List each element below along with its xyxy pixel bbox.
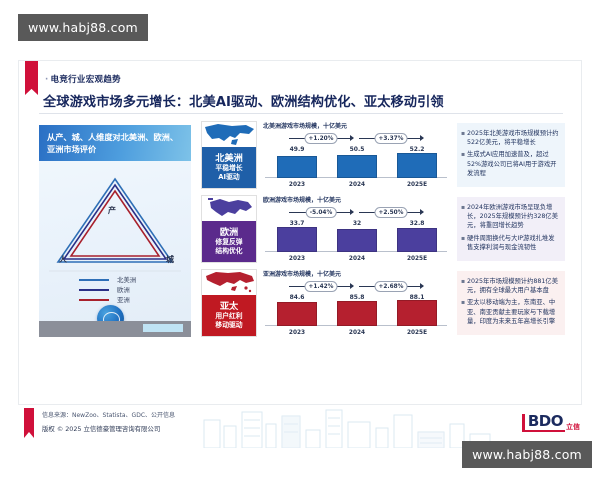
insight-item: ▪ 生成式AI应用加速普及，超过52%游戏公司已将AI用于游戏开发流程 bbox=[461, 150, 560, 178]
region-badge-body: 亚太 用户红利 移动驱动 bbox=[202, 295, 256, 336]
skyline-graphic bbox=[198, 406, 498, 448]
x-tick-label: 2023 bbox=[277, 256, 317, 262]
bar bbox=[277, 156, 317, 178]
bar-chart-asia-pacific: 亚洲游戏市场规模，十亿美元 +1.42% +2.68% bbox=[263, 269, 449, 337]
bar-value: 52.2 bbox=[397, 146, 437, 153]
legend-swatch bbox=[79, 279, 109, 281]
legend-item: 亚洲 bbox=[79, 295, 171, 304]
growth-value: -5.04% bbox=[306, 207, 337, 218]
growth-annotation-1: -5.04% bbox=[289, 207, 353, 218]
insight-text: 硬件周期换代与大IP游戏扎堆发售支撑利润与现金流韧性 bbox=[467, 234, 560, 252]
region-badge-north-america: 北美洲 平稳增长 AI驱动 bbox=[201, 121, 257, 189]
region-row-north-america: 北美洲 平稳增长 AI驱动 北美洲游戏市场规模，十亿美元 +1.20% bbox=[201, 121, 449, 189]
chart-title: 北美洲游戏市场规模，十亿美元 bbox=[263, 121, 347, 130]
footer-source: 信息来源：NewZoo、Statista、GDC、公开信息 bbox=[42, 410, 175, 419]
insight-item: ▪ 2025年北美游戏市场规模预计约522亿美元，将平稳增长 bbox=[461, 129, 560, 147]
bar-value: 32.8 bbox=[397, 220, 437, 227]
growth-value: +1.20% bbox=[305, 133, 338, 144]
x-tick-label: 2024 bbox=[337, 256, 377, 262]
insight-text: 2025年北美游戏市场规模预计约522亿美元，将平稳增长 bbox=[467, 129, 560, 147]
bar bbox=[397, 153, 437, 178]
triangle-panel-heading: 从产、城、人维度对北美洲、欧洲、亚洲市场评价 bbox=[39, 125, 191, 161]
triangle-chart: 产 城 人 bbox=[39, 161, 191, 277]
bar-value: 33.7 bbox=[277, 220, 317, 227]
eyebrow-label: ·电竞行业宏观趋势 bbox=[45, 73, 121, 85]
region-badge-body: 欧洲 修复反弹 结构优化 bbox=[202, 221, 256, 262]
eyebrow-text: 电竞行业宏观趋势 bbox=[51, 75, 121, 85]
bdo-logo: BDO 立信 bbox=[522, 414, 580, 432]
bullet-icon: · bbox=[45, 75, 49, 85]
region-row-europe: 欧洲 修复反弹 结构优化 欧洲游戏市场规模，十亿美元 -5.04% bbox=[201, 195, 449, 263]
growth-annotation-1: +1.20% bbox=[289, 133, 353, 144]
chart-title: 欧洲游戏市场规模，十亿美元 bbox=[263, 195, 341, 204]
legend-label: 欧洲 bbox=[117, 285, 130, 294]
triangle-axis-label-left: 人 bbox=[59, 254, 67, 265]
slide-body: 从产、城、人维度对北美洲、欧洲、亚洲市场评价 产 城 人 bbox=[19, 119, 583, 351]
chart-title: 亚洲游戏市场规模，十亿美元 bbox=[263, 269, 341, 278]
bar-chart-europe: 欧洲游戏市场规模，十亿美元 -5.04% +2.50% bbox=[263, 195, 449, 263]
chart-plot-area: +1.42% +2.68% 84.6 85.8 88.1 bbox=[263, 281, 449, 337]
insight-text: 亚太以移动端为主，东南亚、中亚、南亚贡献主要玩家与下载增量，印度为未来五年高增长… bbox=[467, 298, 560, 326]
growth-annotation-2: +3.37% bbox=[359, 133, 423, 144]
slide-page: www.habj88.com ·电竞行业宏观趋势 全球游戏市场多元增长：北美AI… bbox=[0, 0, 600, 480]
footer-copyright: 版权 © 2025 立信德豪管理咨询有限公司 bbox=[42, 424, 160, 433]
region-name: 北美洲 bbox=[202, 153, 256, 164]
bar-value: 49.9 bbox=[277, 146, 317, 153]
region-row-asia-pacific: 亚太 用户红利 移动驱动 亚洲游戏市场规模，十亿美元 +1.42% bbox=[201, 269, 449, 337]
bar bbox=[397, 228, 437, 252]
region-name: 亚太 bbox=[202, 301, 256, 312]
insight-item: ▪ 亚太以移动端为主，东南亚、中亚、南亚贡献主要玩家与下载增量，印度为未来五年高… bbox=[461, 298, 560, 326]
region-tagline-2: AI驱动 bbox=[202, 173, 256, 182]
triangle-panel: 从产、城、人维度对北美洲、欧洲、亚洲市场评价 产 城 人 bbox=[39, 125, 191, 337]
growth-arrow-icon bbox=[420, 135, 424, 141]
bdo-logo-mark: BDO bbox=[522, 414, 565, 432]
x-tick-label: 2023 bbox=[277, 330, 317, 336]
panel-footer-bar bbox=[39, 321, 191, 337]
growth-value: +3.37% bbox=[375, 133, 408, 144]
bar-value: 50.5 bbox=[337, 146, 377, 153]
region-tagline-2: 移动驱动 bbox=[202, 321, 256, 330]
region-tagline-1: 平稳增长 bbox=[202, 164, 256, 173]
watermark-top: www.habj88.com bbox=[18, 14, 148, 41]
map-europe-icon bbox=[202, 196, 256, 221]
x-tick-label: 2024 bbox=[337, 182, 377, 188]
growth-arrow-icon bbox=[420, 209, 424, 215]
legend-label: 北美洲 bbox=[117, 275, 136, 284]
growth-arrow-icon bbox=[350, 135, 354, 141]
growth-annotation-1: +1.42% bbox=[289, 281, 353, 292]
region-name: 欧洲 bbox=[202, 227, 256, 238]
growth-arrow-icon bbox=[350, 283, 354, 289]
x-tick-label: 2024 bbox=[337, 330, 377, 336]
bar bbox=[337, 229, 377, 252]
legend-item: 欧洲 bbox=[79, 285, 171, 294]
x-tick-label: 2025E bbox=[397, 256, 437, 262]
triangle-axis-label-right: 城 bbox=[166, 254, 174, 265]
x-tick-label: 2025E bbox=[397, 182, 437, 188]
growth-arrow-icon bbox=[350, 209, 354, 215]
legend-swatch bbox=[79, 299, 109, 301]
bar-value: 32 bbox=[337, 220, 377, 227]
legend-item: 北美洲 bbox=[79, 275, 171, 284]
bdo-logo-cn: 立信 bbox=[566, 424, 580, 432]
region-tagline-1: 用户红利 bbox=[202, 312, 256, 321]
legend-swatch bbox=[79, 289, 109, 291]
bar-value: 85.8 bbox=[337, 294, 377, 301]
chart-plot-area: +1.20% +3.37% 49.9 50.5 52.2 bbox=[263, 133, 449, 189]
x-tick-label: 2025E bbox=[397, 330, 437, 336]
watermark-bottom: www.habj88.com bbox=[462, 441, 592, 468]
triangle-legend: 北美洲 欧洲 亚洲 bbox=[79, 275, 171, 305]
chart-plot-area: -5.04% +2.50% 33.7 32 32.8 bbox=[263, 207, 449, 263]
region-badge-asia-pacific: 亚太 用户红利 移动驱动 bbox=[201, 269, 257, 337]
insight-text: 2024年欧洲游戏市场呈现负增长，2025年规模预计约328亿美元，将重回增长趋… bbox=[467, 203, 560, 231]
bar-chart-north-america: 北美洲游戏市场规模，十亿美元 +1.20% +3.37% bbox=[263, 121, 449, 189]
growth-annotation-2: +2.50% bbox=[359, 207, 423, 218]
footer-ribbon-icon bbox=[24, 408, 34, 438]
insight-item: ▪ 2024年欧洲游戏市场呈现负增长，2025年规模预计约328亿美元，将重回增… bbox=[461, 203, 560, 231]
growth-value: +2.50% bbox=[375, 207, 408, 218]
legend-label: 亚洲 bbox=[117, 295, 130, 304]
insight-box-north-america: ▪ 2025年北美游戏市场规模预计约522亿美元，将平稳增长 ▪ 生成式AI应用… bbox=[457, 123, 565, 187]
bar-value: 84.6 bbox=[277, 294, 317, 301]
region-tagline-1: 修复反弹 bbox=[202, 238, 256, 247]
x-tick-label: 2023 bbox=[277, 182, 317, 188]
growth-arrow-icon bbox=[420, 283, 424, 289]
region-badge-body: 北美洲 平稳增长 AI驱动 bbox=[202, 147, 256, 188]
title-divider bbox=[39, 113, 563, 114]
bar bbox=[397, 300, 437, 326]
region-badge-europe: 欧洲 修复反弹 结构优化 bbox=[201, 195, 257, 263]
bar bbox=[277, 302, 317, 326]
map-asia-icon bbox=[202, 270, 256, 295]
slide-card: ·电竞行业宏观趋势 全球游戏市场多元增长：北美AI驱动、欧洲结构优化、亚太移动引… bbox=[18, 60, 582, 405]
bar bbox=[277, 227, 317, 252]
growth-value: +1.42% bbox=[305, 281, 338, 292]
growth-annotation-2: +2.68% bbox=[359, 281, 423, 292]
insight-text: 2025年市场规模预计约881亿美元，拥有全球最大用户基本盘 bbox=[467, 277, 560, 295]
ribbon-icon bbox=[25, 61, 38, 95]
map-north-america-icon bbox=[202, 122, 256, 147]
region-tagline-2: 结构优化 bbox=[202, 247, 256, 256]
bar bbox=[337, 301, 377, 326]
insight-text: 生成式AI应用加速普及，超过52%游戏公司已将AI用于游戏开发流程 bbox=[467, 150, 560, 178]
insight-box-europe: ▪ 2024年欧洲游戏市场呈现负增长，2025年规模预计约328亿美元，将重回增… bbox=[457, 197, 565, 261]
bar bbox=[337, 155, 377, 178]
insight-box-asia-pacific: ▪ 2025年市场规模预计约881亿美元，拥有全球最大用户基本盘 ▪ 亚太以移动… bbox=[457, 271, 565, 335]
insight-item: ▪ 2025年市场规模预计约881亿美元，拥有全球最大用户基本盘 bbox=[461, 277, 560, 295]
page-title: 全球游戏市场多元增长：北美AI驱动、欧洲结构优化、亚太移动引领 bbox=[43, 91, 444, 110]
growth-value: +2.68% bbox=[375, 281, 408, 292]
insight-item: ▪ 硬件周期换代与大IP游戏扎堆发售支撑利润与现金流韧性 bbox=[461, 234, 560, 252]
triangle-axis-label-top: 产 bbox=[108, 205, 116, 216]
